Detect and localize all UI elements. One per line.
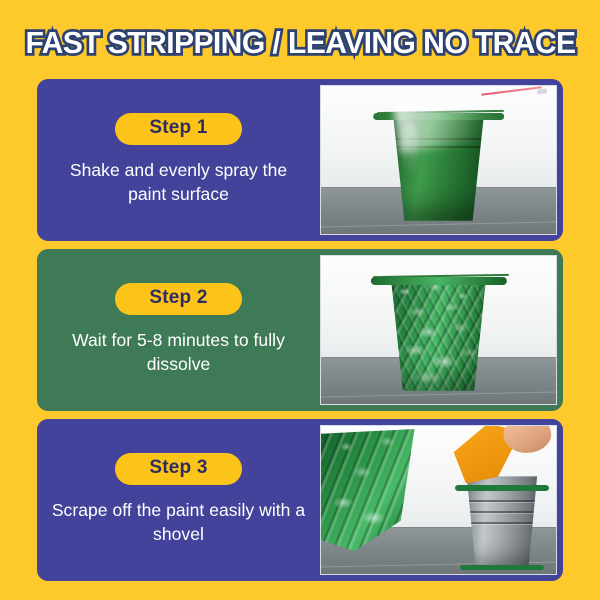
step-card-3[interactable]: Step 3 Scrape off the paint easily with … [37, 419, 563, 581]
bucket-base-residue [460, 565, 545, 570]
bucket-ring [390, 146, 487, 148]
bucket-ring [464, 511, 541, 513]
step-2-photo: Bucket with green paint bubbled and wrin… [320, 255, 557, 405]
step-3-photo: Hand using an orange scraper to peel a s… [320, 425, 557, 575]
bucket-rim [373, 113, 505, 120]
bucket-ring [390, 138, 487, 140]
bucket-ring [464, 500, 541, 502]
step-3-description: Scrape off the paint easily with a shove… [51, 498, 306, 548]
step-1-photo: Green painted metal bucket being sprayed… [320, 85, 557, 235]
header-banner: FAST STRIPPING / LEAVING NO TRACE [0, 0, 600, 79]
spray-nozzle-icon [536, 88, 547, 94]
step-card-1[interactable]: Step 1 Shake and evenly spray the paint … [37, 79, 563, 241]
step-1-photo-scene: Green painted metal bucket being sprayed… [321, 86, 556, 234]
step-2-photo-scene: Bucket with green paint bubbled and wrin… [321, 256, 556, 404]
step-3-photo-scene: Hand using an orange scraper to peel a s… [321, 426, 556, 574]
step-3-badge: Step 3 [115, 453, 241, 485]
step-2-badge: Step 2 [115, 283, 241, 315]
step-2-text-block: Step 2 Wait for 5-8 minutes to fully dis… [37, 249, 320, 411]
step-2-description: Wait for 5-8 minutes to fully dissolve [51, 328, 306, 378]
steps-list: Step 1 Shake and evenly spray the paint … [0, 79, 600, 581]
step-1-text-block: Step 1 Shake and evenly spray the paint … [37, 79, 320, 241]
bucket-ring [464, 522, 541, 524]
step-3-text-block: Step 3 Scrape off the paint easily with … [37, 419, 320, 581]
step-card-2[interactable]: Step 2 Wait for 5-8 minutes to fully dis… [37, 249, 563, 411]
bucket-rim-residue [455, 485, 549, 491]
bucket-rim [370, 277, 506, 285]
step-1-badge: Step 1 [115, 113, 241, 145]
page-title: FAST STRIPPING / LEAVING NO TRACE [25, 25, 575, 61]
step-1-description: Shake and evenly spray the paint surface [51, 158, 306, 208]
